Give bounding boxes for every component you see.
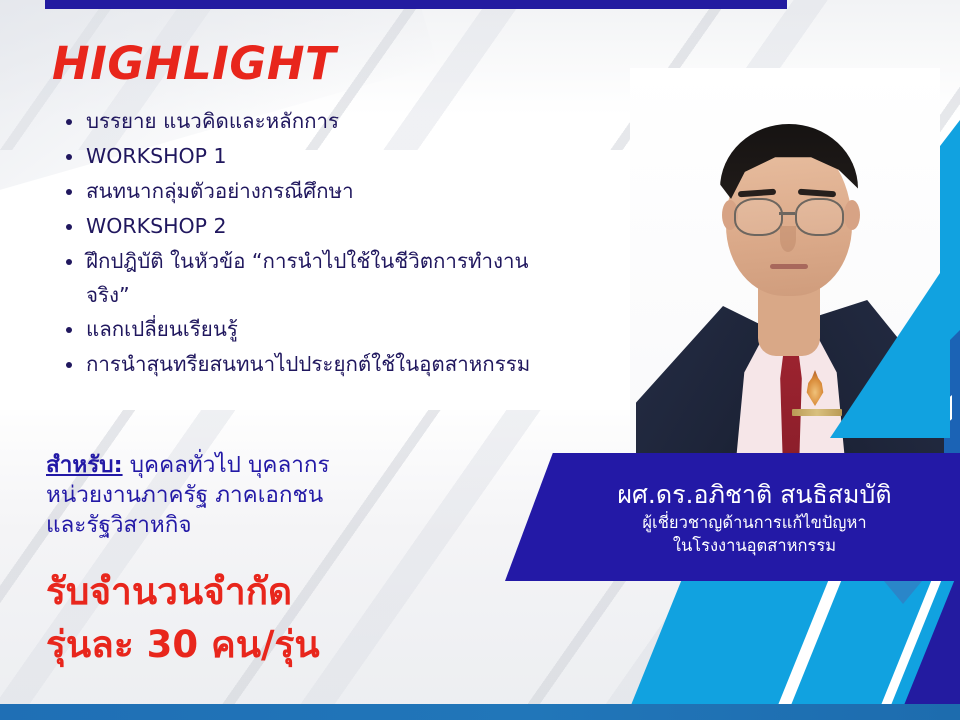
list-item: WORKSHOP 2 [62,209,532,244]
list-item-label: WORKSHOP 2 [86,214,227,238]
eyeglass-lens-right [795,198,844,236]
bullet-dot-icon [66,259,72,265]
top-navy-bar [45,0,787,9]
chevron-down-icon [884,581,922,604]
speaker-role-line-2: ในโรงงานอุตสาหกรรม [505,534,960,557]
bullet-dot-icon [66,327,72,333]
list-item: สนทนากลุ่มตัวอย่างกรณีศึกษา [62,174,532,209]
bullet-dot-icon [66,189,72,195]
speaker-name: ผศ.ดร.อภิชาติ สนธิสมบัติ [505,479,960,511]
speaker-role-line-1: ผู้เชี่ยวชาญด้านการแก้ไขปัญหา [505,511,960,534]
list-item: แลกเปลี่ยนเรียนรู้ [62,312,532,347]
list-item-label: สนทนากลุ่มตัวอย่างกรณีศึกษา [86,179,354,203]
bullet-dot-icon [66,119,72,125]
list-item-label: ฝึกปฎิบัติ ในหัวข้อ “การนำไปใช้ในชีวิตกา… [86,249,529,307]
page-title: HIGHLIGHT [52,37,336,90]
speaker-photo [630,68,940,508]
list-item-label: WORKSHOP 1 [86,144,227,168]
poster-canvas: HIGHLIGHT บรรยาย แนวคิดและหลักการ WORKSH… [0,0,960,720]
nose [780,226,796,252]
list-item: บรรยาย แนวคิดและหลักการ [62,104,532,139]
ear-right [844,200,860,230]
list-item-label: แลกเปลี่ยนเรียนรู้ [86,317,238,341]
list-item: การนำสุนทรียสนทนาไปประยุกต์ใช้ในอุตสาหกร… [62,347,532,381]
list-item-label: การนำสุนทรียสนทนาไปประยุกต์ใช้ในอุตสาหกร… [86,352,530,376]
highlight-list: บรรยาย แนวคิดและหลักการ WORKSHOP 1 สนทนา… [62,104,532,381]
emblem-caption-bar [792,409,842,416]
list-item-label: บรรยาย แนวคิดและหลักการ [86,109,339,133]
bullet-dot-icon [66,224,72,230]
eyeglass-bridge [779,212,795,215]
bullet-dot-icon [66,154,72,160]
eyeglass-lens-left [734,198,783,236]
mouth [770,264,808,269]
list-item: WORKSHOP 1 [62,139,532,174]
bottom-blue-strip [0,704,960,720]
list-item: ฝึกปฎิบัติ ในหัวข้อ “การนำไปใช้ในชีวิตกา… [62,244,532,312]
speaker-name-card: ผศ.ดร.อภิชาติ สนธิสมบัติ ผู้เชี่ยวชาญด้า… [505,453,960,581]
bullet-dot-icon [66,362,72,368]
